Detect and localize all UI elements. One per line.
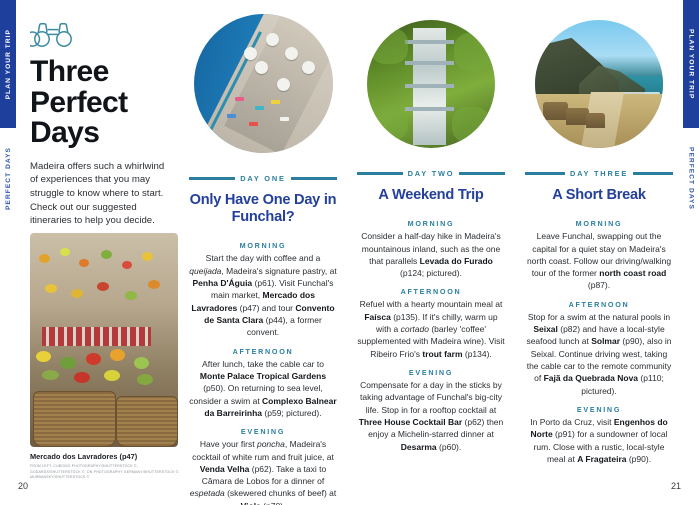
day-two-photo [367, 20, 495, 148]
day-three-afternoon-body: Stop for a swim at the natural pools in … [525, 311, 673, 397]
day-three-evening-body: In Porto da Cruz, visit Engenhos do Nort… [525, 416, 673, 465]
day-two-afternoon-body: Refuel with a hearty mountain meal at Fa… [357, 298, 505, 360]
day-three-photo-art [535, 20, 663, 148]
day-one-morning-label: MORNING [240, 241, 287, 250]
day-three-kicker: DAY THREE [570, 169, 628, 178]
edge-tab-left-primary-label: PLAN YOUR TRIP [5, 29, 12, 99]
photo-caption: Mercado dos Lavradores (p47) [30, 452, 180, 461]
edge-tab-right: PLAN YOUR TRIP PERFECT DAYS [683, 0, 699, 505]
day-three-morning-body: Leave Funchal, swapping out the capital … [525, 230, 673, 292]
day-column-one: DAY ONE Only Have One Day in Funchal? MO… [179, 14, 347, 505]
edge-tab-left-secondary: PERFECT DAYS [0, 128, 16, 228]
photo-credits: FROM LEFT: CUB/DSO PHOTOGRAPHY/SHUTTERST… [30, 464, 182, 481]
day-one-afternoon-body: After lunch, take the cable car to Monte… [189, 358, 337, 420]
day-column-three: DAY THREE A Short Break MORNING Leave Fu… [515, 14, 683, 505]
day-column-two: DAY TWO A Weekend Trip MORNING Consider … [347, 14, 515, 505]
magazine-spread: PLAN YOUR TRIP PERFECT DAYS PLAN YOUR TR… [0, 0, 699, 505]
edge-tab-right-primary-label: PLAN YOUR TRIP [688, 29, 695, 99]
itinerary-columns: DAY ONE Only Have One Day in Funchal? MO… [179, 0, 683, 505]
day-three-title: A Short Break [552, 187, 646, 204]
day-one-afternoon-label: AFTERNOON [233, 347, 294, 356]
market-photo [30, 233, 178, 447]
edge-tab-right-secondary-label: PERFECT DAYS [688, 147, 695, 210]
edge-tab-right-secondary: PERFECT DAYS [683, 128, 699, 228]
day-one-kicker: DAY ONE [240, 174, 285, 183]
day-three-evening-label: EVENING [577, 405, 621, 414]
market-photo-art [30, 233, 178, 447]
day-one-photo [194, 14, 333, 153]
intro-column: Three Perfect Days Madeira offers such a… [16, 0, 179, 505]
day-one-evening-label: EVENING [241, 427, 285, 436]
edge-tab-left: PLAN YOUR TRIP PERFECT DAYS [0, 0, 16, 505]
binoculars-icon [30, 22, 76, 48]
day-three-morning-label: MORNING [576, 219, 623, 228]
day-two-evening-body: Compensate for a day in the sticks by ta… [357, 379, 505, 453]
day-three-rule: DAY THREE [525, 169, 673, 178]
day-two-afternoon-label: AFTERNOON [401, 287, 462, 296]
day-one-morning-body: Start the day with coffee and a queijada… [189, 252, 337, 338]
day-one-photo-art [194, 14, 333, 153]
day-three-afternoon-label: AFTERNOON [569, 300, 630, 309]
day-two-rule: DAY TWO [357, 169, 505, 178]
edge-tab-left-secondary-label: PERFECT DAYS [5, 147, 12, 210]
page-title: Three Perfect Days [30, 57, 165, 149]
edge-tab-right-primary: PLAN YOUR TRIP [683, 0, 699, 128]
day-three-photo [535, 20, 663, 148]
intro-deck: Madeira offers such a whirlwind of exper… [30, 160, 165, 228]
day-two-title: A Weekend Trip [378, 187, 483, 204]
day-one-rule: DAY ONE [189, 174, 337, 183]
day-two-morning-label: MORNING [408, 219, 455, 228]
day-one-title: Only Have One Day in Funchal? [189, 192, 337, 226]
day-one-evening-body: Have your first poncha, Madeira's cockta… [189, 438, 337, 505]
day-two-morning-body: Consider a half-day hike in Madeira's mo… [357, 230, 505, 279]
day-two-kicker: DAY TWO [408, 169, 455, 178]
edge-tab-left-primary: PLAN YOUR TRIP [0, 0, 16, 128]
day-two-evening-label: EVENING [409, 368, 453, 377]
day-two-photo-art [367, 20, 495, 148]
